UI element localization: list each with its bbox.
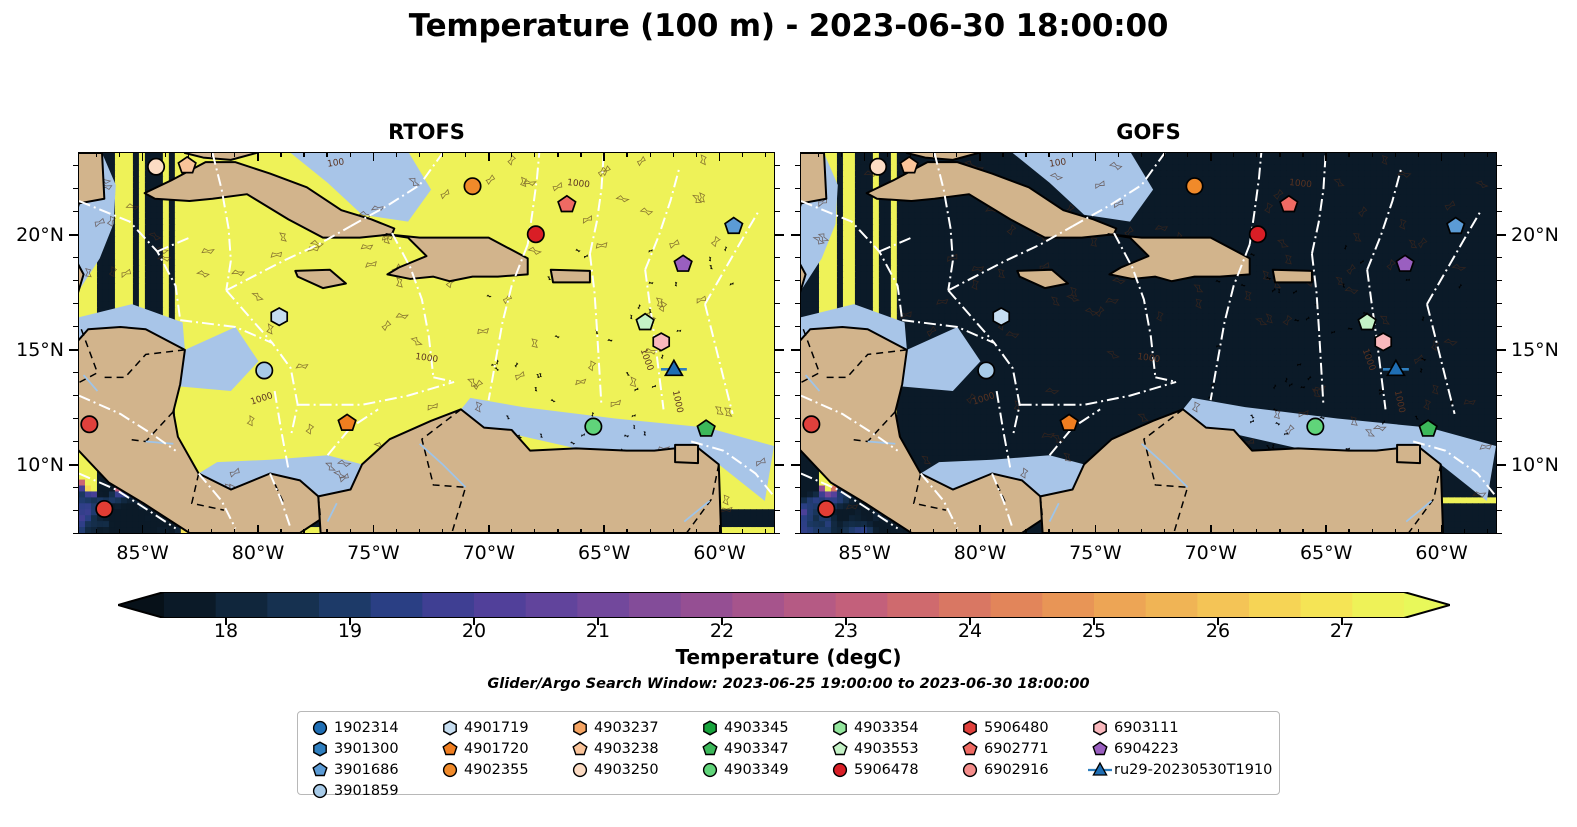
circle-marker-icon (826, 759, 854, 780)
xtick-major (257, 152, 259, 161)
xtick-minor (956, 529, 957, 534)
colorbar-tick-label: 20 (434, 620, 514, 642)
xtick-minor (557, 529, 558, 534)
ytick-minor (1497, 257, 1502, 258)
ytick-major (775, 349, 784, 351)
ytick-minor (795, 280, 800, 281)
xtick-minor (1002, 529, 1003, 534)
ytick-minor (73, 303, 78, 304)
circle-marker-icon (956, 759, 984, 780)
ytick-major (69, 349, 78, 351)
xtick-minor (1464, 152, 1465, 157)
legend-label: 4903553 (854, 741, 919, 757)
legend-column: 69031116904223ru29-20230530T1910 (1086, 717, 1261, 801)
legend-entry[interactable]: 4903345 (696, 717, 826, 738)
hexagon-marker-icon (956, 717, 984, 738)
xtick-minor (1164, 529, 1165, 534)
xtick-minor (280, 152, 281, 157)
xtick-minor (396, 152, 397, 157)
legend-entry[interactable]: 5906480 (956, 717, 1086, 738)
xtick-minor (280, 529, 281, 534)
xtick-minor (1256, 529, 1257, 534)
figure-title: Temperature (100 m) - 2023-06-30 18:00:0… (0, 8, 1577, 44)
colorbar-tick-label: 19 (310, 620, 390, 642)
xtick-label: 60°W (1397, 542, 1487, 564)
gofs-map-canvas: 10001000100010001001000 (801, 153, 1496, 533)
ytick-minor (775, 280, 780, 281)
xtick-minor (696, 529, 697, 534)
ytick-minor (775, 257, 780, 258)
figure-canvas: Temperature (100 m) - 2023-06-30 18:00:0… (0, 0, 1577, 827)
xtick-minor (442, 529, 443, 534)
xtick-minor (841, 152, 842, 157)
xtick-major (864, 152, 866, 161)
ytick-minor (795, 510, 800, 511)
xtick-minor (326, 529, 327, 534)
panel-title-gofs: GOFS (800, 120, 1497, 144)
ytick-minor (795, 257, 800, 258)
ytick-minor (73, 188, 78, 189)
xtick-major (1210, 152, 1212, 161)
xtick-major (719, 152, 721, 161)
pentagon-marker-icon (566, 738, 594, 759)
xtick-minor (673, 152, 674, 157)
xtick-minor (765, 529, 766, 534)
ytick-minor (1497, 441, 1502, 442)
circle-marker-icon (306, 780, 334, 801)
xtick-minor (350, 152, 351, 157)
xtick-minor (1025, 152, 1026, 157)
ytick-minor (73, 395, 78, 396)
xtick-minor (1118, 529, 1119, 534)
map-panel-rtofs[interactable]: 10001000100010001001000 (78, 152, 775, 534)
ytick-major (791, 464, 800, 466)
legend-entry[interactable]: 3901686 (306, 759, 436, 780)
xtick-label: 65°W (1281, 542, 1371, 564)
legend-label: 4903345 (724, 720, 789, 736)
pentagon-marker-icon (696, 738, 724, 759)
ytick-label-left: 15°N (0, 339, 64, 361)
xtick-minor (534, 529, 535, 534)
xtick-major (1325, 152, 1327, 161)
ytick-major (775, 234, 784, 236)
hexagon-marker-icon (826, 717, 854, 738)
legend-entry[interactable]: 1902314 (306, 717, 436, 738)
xtick-major (1325, 525, 1327, 534)
xtick-label: 75°W (328, 542, 418, 564)
xtick-minor (1256, 152, 1257, 157)
legend-label: 5906480 (984, 720, 1049, 736)
legend-label: 3901686 (334, 762, 399, 778)
hexagon-marker-icon (566, 717, 594, 738)
xtick-minor (841, 529, 842, 534)
xtick-minor (303, 152, 304, 157)
panel-title-rtofs: RTOFS (78, 120, 775, 144)
hexagon-marker-icon (306, 738, 334, 759)
xtick-label: 85°W (98, 542, 188, 564)
glider-track-marker-icon (1086, 759, 1114, 780)
colorbar (118, 592, 1450, 618)
ytick-major (1497, 349, 1506, 351)
ytick-major (775, 464, 784, 466)
ytick-minor (795, 188, 800, 189)
xtick-minor (303, 529, 304, 534)
colorbar-tick-label: 23 (806, 620, 886, 642)
ytick-minor (795, 211, 800, 212)
xtick-minor (696, 152, 697, 157)
legend-entry[interactable]: 6903111 (1086, 717, 1261, 738)
legend-entry[interactable]: 6904223 (1086, 738, 1261, 759)
hexagon-marker-icon (1086, 717, 1114, 738)
pentagon-marker-icon (1086, 738, 1114, 759)
ytick-minor (73, 211, 78, 212)
legend-entry[interactable]: 3901859 (306, 780, 436, 801)
xtick-minor (933, 529, 934, 534)
map-panel-gofs[interactable]: 10001000100010001001000 (800, 152, 1497, 534)
legend-label: 4903347 (724, 741, 789, 757)
ytick-label-right: 15°N (1511, 339, 1577, 361)
xtick-label: 80°W (213, 542, 303, 564)
xtick-minor (650, 152, 651, 157)
xtick-minor (1187, 529, 1188, 534)
xtick-minor (1418, 529, 1419, 534)
hexagon-marker-icon (436, 717, 464, 738)
ytick-minor (1497, 533, 1502, 534)
xtick-major (142, 152, 144, 161)
ytick-minor (73, 418, 78, 419)
xtick-minor (465, 152, 466, 157)
xtick-label: 80°W (935, 542, 1025, 564)
circle-marker-icon (566, 759, 594, 780)
colorbar-gradient (118, 592, 1450, 618)
ytick-minor (775, 441, 780, 442)
xtick-minor (1048, 152, 1049, 157)
ytick-minor (775, 533, 780, 534)
xtick-label: 70°W (444, 542, 534, 564)
xtick-minor (742, 529, 743, 534)
xtick-minor (234, 529, 235, 534)
hexagon-marker-icon (696, 717, 724, 738)
legend-entry[interactable]: 4902355 (436, 759, 566, 780)
xtick-minor (1487, 152, 1488, 157)
xtick-minor (1233, 152, 1234, 157)
legend-entry[interactable]: 4901719 (436, 717, 566, 738)
ytick-minor (73, 487, 78, 488)
legend-label: 4903349 (724, 762, 789, 778)
ytick-minor (73, 372, 78, 373)
ytick-minor (1497, 418, 1502, 419)
legend-entry[interactable]: 6902916 (956, 759, 1086, 780)
ytick-minor (795, 372, 800, 373)
legend-entry[interactable]: ru29-20230530T1910 (1086, 759, 1261, 780)
ytick-label-right: 20°N (1511, 224, 1577, 246)
legend-entry[interactable]: 4903250 (566, 759, 696, 780)
xtick-minor (1464, 529, 1465, 534)
ytick-major (1497, 464, 1506, 466)
xtick-minor (1072, 529, 1073, 534)
xtick-minor (818, 529, 819, 534)
xtick-minor (1372, 529, 1373, 534)
legend-column: 590648069027716902916 (956, 717, 1086, 801)
xtick-minor (165, 529, 166, 534)
ytick-minor (795, 487, 800, 488)
ytick-minor (775, 372, 780, 373)
legend-entry[interactable]: 4903237 (566, 717, 696, 738)
xtick-minor (1418, 152, 1419, 157)
xtick-minor (1025, 529, 1026, 534)
ytick-minor (775, 165, 780, 166)
legend-entry[interactable]: 5906478 (826, 759, 956, 780)
legend-entry[interactable]: 4903349 (696, 759, 826, 780)
xtick-major (1095, 525, 1097, 534)
xtick-minor (673, 529, 674, 534)
ytick-minor (795, 303, 800, 304)
xtick-minor (1164, 152, 1165, 157)
ytick-minor (1497, 510, 1502, 511)
circle-marker-icon (306, 717, 334, 738)
circle-marker-icon (436, 759, 464, 780)
xtick-minor (1348, 152, 1349, 157)
colorbar-tick-label: 22 (682, 620, 762, 642)
legend-label: 6902771 (984, 741, 1049, 757)
xtick-minor (534, 152, 535, 157)
legend-column: 490334549033474903349 (696, 717, 826, 801)
xtick-minor (1395, 529, 1396, 534)
xtick-major (142, 525, 144, 534)
rtofs-map-canvas: 10001000100010001001000 (79, 153, 774, 533)
legend-entry[interactable]: 6902771 (956, 738, 1086, 759)
ytick-minor (775, 326, 780, 327)
pentagon-marker-icon (436, 738, 464, 759)
xtick-minor (1279, 152, 1280, 157)
xtick-minor (1118, 152, 1119, 157)
xtick-major (488, 152, 490, 161)
legend-label: 6902916 (984, 762, 1049, 778)
xtick-minor (1395, 152, 1396, 157)
xtick-minor (818, 152, 819, 157)
xtick-minor (188, 529, 189, 534)
xtick-label: 85°W (820, 542, 910, 564)
legend-label: ru29-20230530T1910 (1114, 762, 1272, 778)
xtick-major (1095, 152, 1097, 161)
legend-label: 4903238 (594, 741, 659, 757)
xtick-minor (96, 152, 97, 157)
legend-entry[interactable]: 4903347 (696, 738, 826, 759)
legend-label: 4903354 (854, 720, 919, 736)
ytick-minor (795, 533, 800, 534)
ytick-label-left: 20°N (0, 224, 64, 246)
legend-entry[interactable]: 4903238 (566, 738, 696, 759)
glider-argo-legend[interactable]: 1902314390130039016863901859490171949017… (297, 711, 1280, 795)
colorbar-tick-label: 18 (186, 620, 266, 642)
xtick-minor (119, 529, 120, 534)
xtick-minor (1302, 529, 1303, 534)
xtick-minor (887, 152, 888, 157)
legend-label: 5906478 (854, 762, 919, 778)
xtick-major (488, 525, 490, 534)
ytick-major (1497, 234, 1506, 236)
legend-label: 4901720 (464, 741, 529, 757)
xtick-minor (956, 152, 957, 157)
xtick-minor (1187, 152, 1188, 157)
ytick-minor (775, 303, 780, 304)
ytick-minor (73, 326, 78, 327)
legend-entry[interactable]: 4903354 (826, 717, 956, 738)
legend-label: 6904223 (1114, 741, 1179, 757)
legend-label: 4901719 (464, 720, 529, 736)
ytick-minor (73, 165, 78, 166)
xtick-minor (234, 152, 235, 157)
xtick-minor (1141, 152, 1142, 157)
xtick-major (864, 525, 866, 534)
xtick-minor (1348, 529, 1349, 534)
legend-label: 4903250 (594, 762, 659, 778)
ytick-major (69, 234, 78, 236)
xtick-major (979, 525, 981, 534)
legend-column: 490335449035535906478 (826, 717, 956, 801)
xtick-minor (933, 152, 934, 157)
xtick-minor (626, 152, 627, 157)
xtick-minor (511, 529, 512, 534)
ytick-minor (73, 441, 78, 442)
ytick-minor (775, 510, 780, 511)
colorbar-tick-label: 25 (1054, 620, 1134, 642)
ytick-minor (1497, 165, 1502, 166)
xtick-major (257, 525, 259, 534)
xtick-major (373, 525, 375, 534)
xtick-minor (580, 529, 581, 534)
xtick-minor (211, 529, 212, 534)
xtick-minor (887, 529, 888, 534)
ytick-label-right: 10°N (1511, 454, 1577, 476)
ytick-minor (775, 188, 780, 189)
ytick-minor (1497, 188, 1502, 189)
xtick-minor (1279, 529, 1280, 534)
xtick-major (1210, 525, 1212, 534)
xtick-minor (1487, 529, 1488, 534)
xtick-minor (650, 529, 651, 534)
ytick-minor (795, 418, 800, 419)
xtick-major (719, 525, 721, 534)
legend-column: 490171949017204902355 (436, 717, 566, 801)
xtick-minor (1302, 152, 1303, 157)
xtick-minor (557, 152, 558, 157)
colorbar-title: Temperature (degC) (0, 645, 1577, 669)
xtick-minor (396, 529, 397, 534)
xtick-label: 70°W (1166, 542, 1256, 564)
legend-column: 490323749032384903250 (566, 717, 696, 801)
legend-label: 1902314 (334, 720, 399, 736)
pentagon-marker-icon (956, 738, 984, 759)
ytick-minor (795, 326, 800, 327)
legend-entry[interactable]: 4901720 (436, 738, 566, 759)
legend-label: 6903111 (1114, 720, 1179, 736)
xtick-minor (765, 152, 766, 157)
xtick-minor (1072, 152, 1073, 157)
xtick-major (979, 152, 981, 161)
xtick-minor (96, 529, 97, 534)
xtick-minor (910, 152, 911, 157)
xtick-minor (626, 529, 627, 534)
legend-column: 1902314390130039016863901859 (306, 717, 436, 801)
colorbar-tick-label: 24 (930, 620, 1010, 642)
xtick-minor (742, 152, 743, 157)
colorbar-tick-label: 27 (1302, 620, 1382, 642)
pentagon-marker-icon (306, 759, 334, 780)
xtick-minor (1048, 529, 1049, 534)
xtick-minor (419, 529, 420, 534)
xtick-minor (511, 152, 512, 157)
xtick-minor (1233, 529, 1234, 534)
ytick-minor (1497, 303, 1502, 304)
ytick-minor (795, 441, 800, 442)
ytick-major (791, 349, 800, 351)
xtick-minor (465, 529, 466, 534)
legend-entry[interactable]: 4903553 (826, 738, 956, 759)
legend-label: 3901300 (334, 741, 399, 757)
xtick-minor (188, 152, 189, 157)
legend-grid: 1902314390130039016863901859490171949017… (306, 717, 1261, 801)
xtick-major (603, 152, 605, 161)
ytick-minor (775, 211, 780, 212)
xtick-major (603, 525, 605, 534)
ytick-minor (73, 257, 78, 258)
xtick-major (1441, 152, 1443, 161)
ytick-minor (73, 280, 78, 281)
ytick-minor (73, 533, 78, 534)
ytick-minor (775, 487, 780, 488)
search-window-text: Glider/Argo Search Window: 2023-06-25 19… (0, 676, 1577, 692)
ytick-minor (1497, 326, 1502, 327)
ytick-minor (795, 165, 800, 166)
xtick-minor (350, 529, 351, 534)
ytick-minor (1497, 372, 1502, 373)
ytick-minor (1497, 395, 1502, 396)
xtick-label: 65°W (559, 542, 649, 564)
ytick-major (69, 464, 78, 466)
xtick-minor (580, 152, 581, 157)
xtick-minor (1002, 152, 1003, 157)
colorbar-tick-label: 26 (1178, 620, 1258, 642)
legend-entry[interactable]: 3901300 (306, 738, 436, 759)
ytick-minor (775, 395, 780, 396)
xtick-minor (326, 152, 327, 157)
ytick-minor (775, 418, 780, 419)
ytick-major (791, 234, 800, 236)
ytick-minor (1497, 280, 1502, 281)
xtick-major (373, 152, 375, 161)
xtick-minor (119, 152, 120, 157)
ytick-label-left: 10°N (0, 454, 64, 476)
xtick-major (1441, 525, 1443, 534)
legend-label: 3901859 (334, 783, 399, 799)
xtick-minor (910, 529, 911, 534)
xtick-minor (211, 152, 212, 157)
circle-marker-icon (696, 759, 724, 780)
legend-label: 4902355 (464, 762, 529, 778)
legend-label: 4903237 (594, 720, 659, 736)
xtick-label: 75°W (1050, 542, 1140, 564)
xtick-minor (1141, 529, 1142, 534)
ytick-minor (73, 510, 78, 511)
xtick-minor (442, 152, 443, 157)
xtick-minor (165, 152, 166, 157)
ytick-minor (795, 395, 800, 396)
xtick-minor (419, 152, 420, 157)
ytick-minor (1497, 211, 1502, 212)
colorbar-tick-label: 21 (558, 620, 638, 642)
xtick-label: 60°W (675, 542, 765, 564)
